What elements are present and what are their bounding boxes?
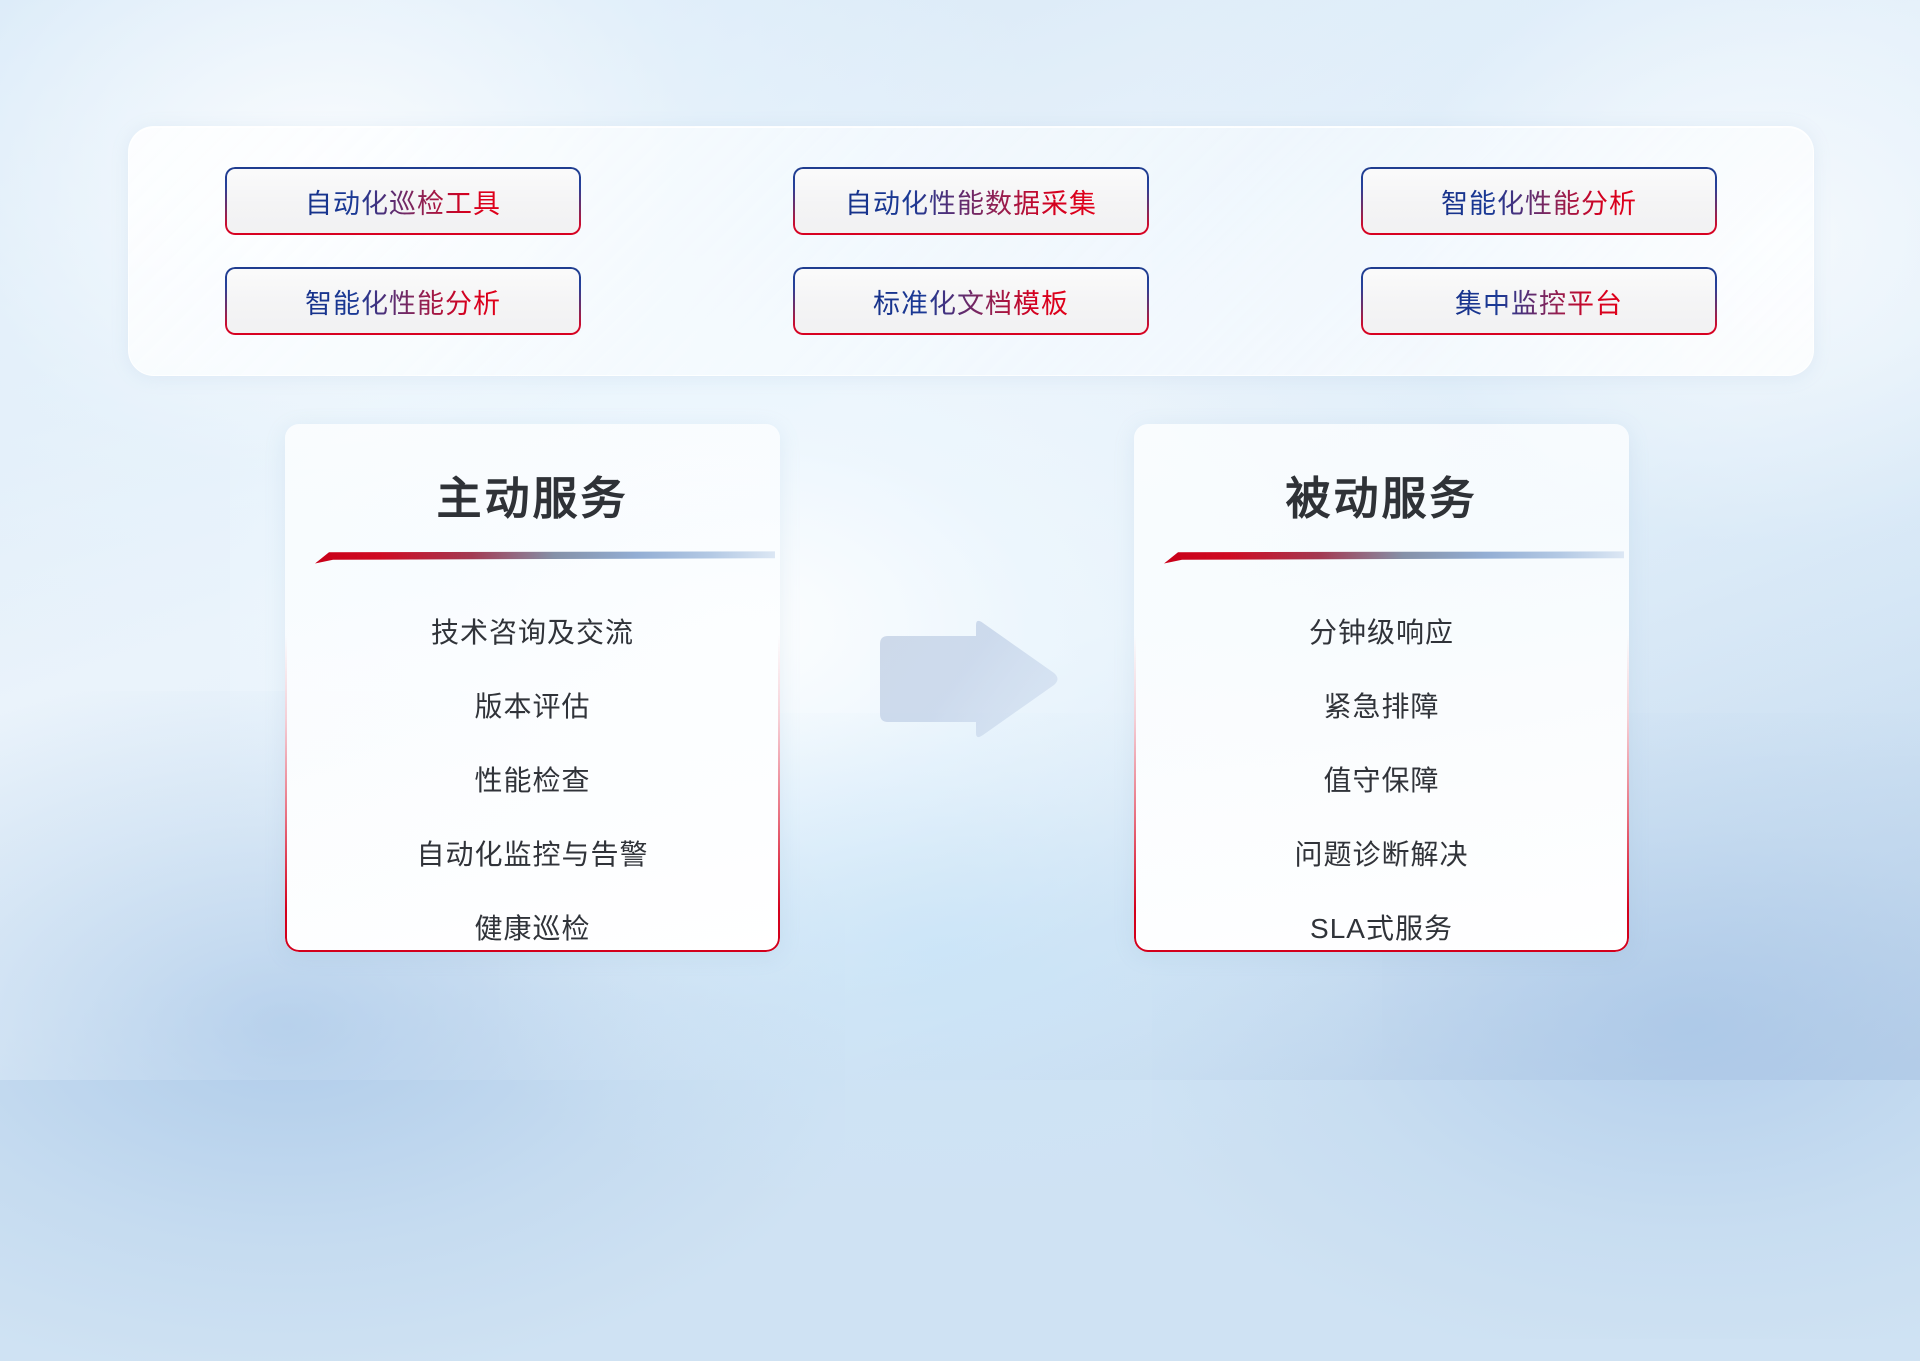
capability-pill-automated-inspection-tool[interactable]: 自动化巡检工具	[225, 167, 581, 235]
list-item: SLA式服务	[1310, 892, 1453, 966]
service-card-reactive: 被动服务 分钟级响应 紧急排障 值守保障 问题诊断解决 SLA式服务	[1134, 424, 1629, 952]
arrow-right-icon	[872, 618, 1060, 740]
gradient-divider	[315, 551, 775, 564]
capability-pill-label: 智能化性能分析	[1441, 182, 1637, 221]
capability-pill-label: 集中监控平台	[1455, 282, 1623, 321]
list-item: 技术咨询及交流	[431, 596, 634, 670]
service-card-proactive: 主动服务 技术咨询及交流 版本评估 性能检查 自动化监控与告警 健康巡检	[285, 424, 780, 952]
capabilities-row-2: 智能化性能分析 标准化文档模板 集中监控平台	[129, 267, 1813, 335]
capability-pill-label: 标准化文档模板	[873, 282, 1069, 321]
capability-pill-standardized-document-template[interactable]: 标准化文档模板	[793, 267, 1149, 335]
capability-pill-label: 自动化巡检工具	[305, 182, 501, 221]
list-item: 版本评估	[474, 670, 590, 744]
capabilities-row-1: 自动化巡检工具 自动化性能数据采集 智能化性能分析	[129, 167, 1813, 235]
capability-pill-label: 自动化性能数据采集	[845, 182, 1097, 221]
list-item: 性能检查	[474, 744, 590, 818]
list-item: 问题诊断解决	[1294, 818, 1468, 892]
capability-pill-intelligent-performance-analysis-top[interactable]: 智能化性能分析	[1361, 167, 1717, 235]
gradient-divider	[1164, 551, 1624, 564]
capability-pill-intelligent-performance-analysis-bottom[interactable]: 智能化性能分析	[225, 267, 581, 335]
service-card-title: 主动服务	[285, 462, 780, 527]
list-item: 紧急排障	[1323, 670, 1439, 744]
list-item: 分钟级响应	[1309, 596, 1454, 670]
capability-pill-label: 智能化性能分析	[305, 282, 501, 321]
list-item: 值守保障	[1323, 744, 1439, 818]
service-card-title: 被动服务	[1134, 462, 1629, 527]
service-card-list: 技术咨询及交流 版本评估 性能检查 自动化监控与告警 健康巡检	[285, 596, 780, 966]
list-item: 健康巡检	[474, 892, 590, 966]
capability-pill-centralized-monitoring-platform[interactable]: 集中监控平台	[1361, 267, 1717, 335]
capability-pill-automated-performance-data-collection[interactable]: 自动化性能数据采集	[793, 167, 1149, 235]
service-card-list: 分钟级响应 紧急排障 值守保障 问题诊断解决 SLA式服务	[1134, 596, 1629, 966]
capabilities-panel: 自动化巡检工具 自动化性能数据采集 智能化性能分析 智能化性能分析 标准化文档模…	[128, 126, 1814, 376]
list-item: 自动化监控与告警	[416, 818, 648, 892]
